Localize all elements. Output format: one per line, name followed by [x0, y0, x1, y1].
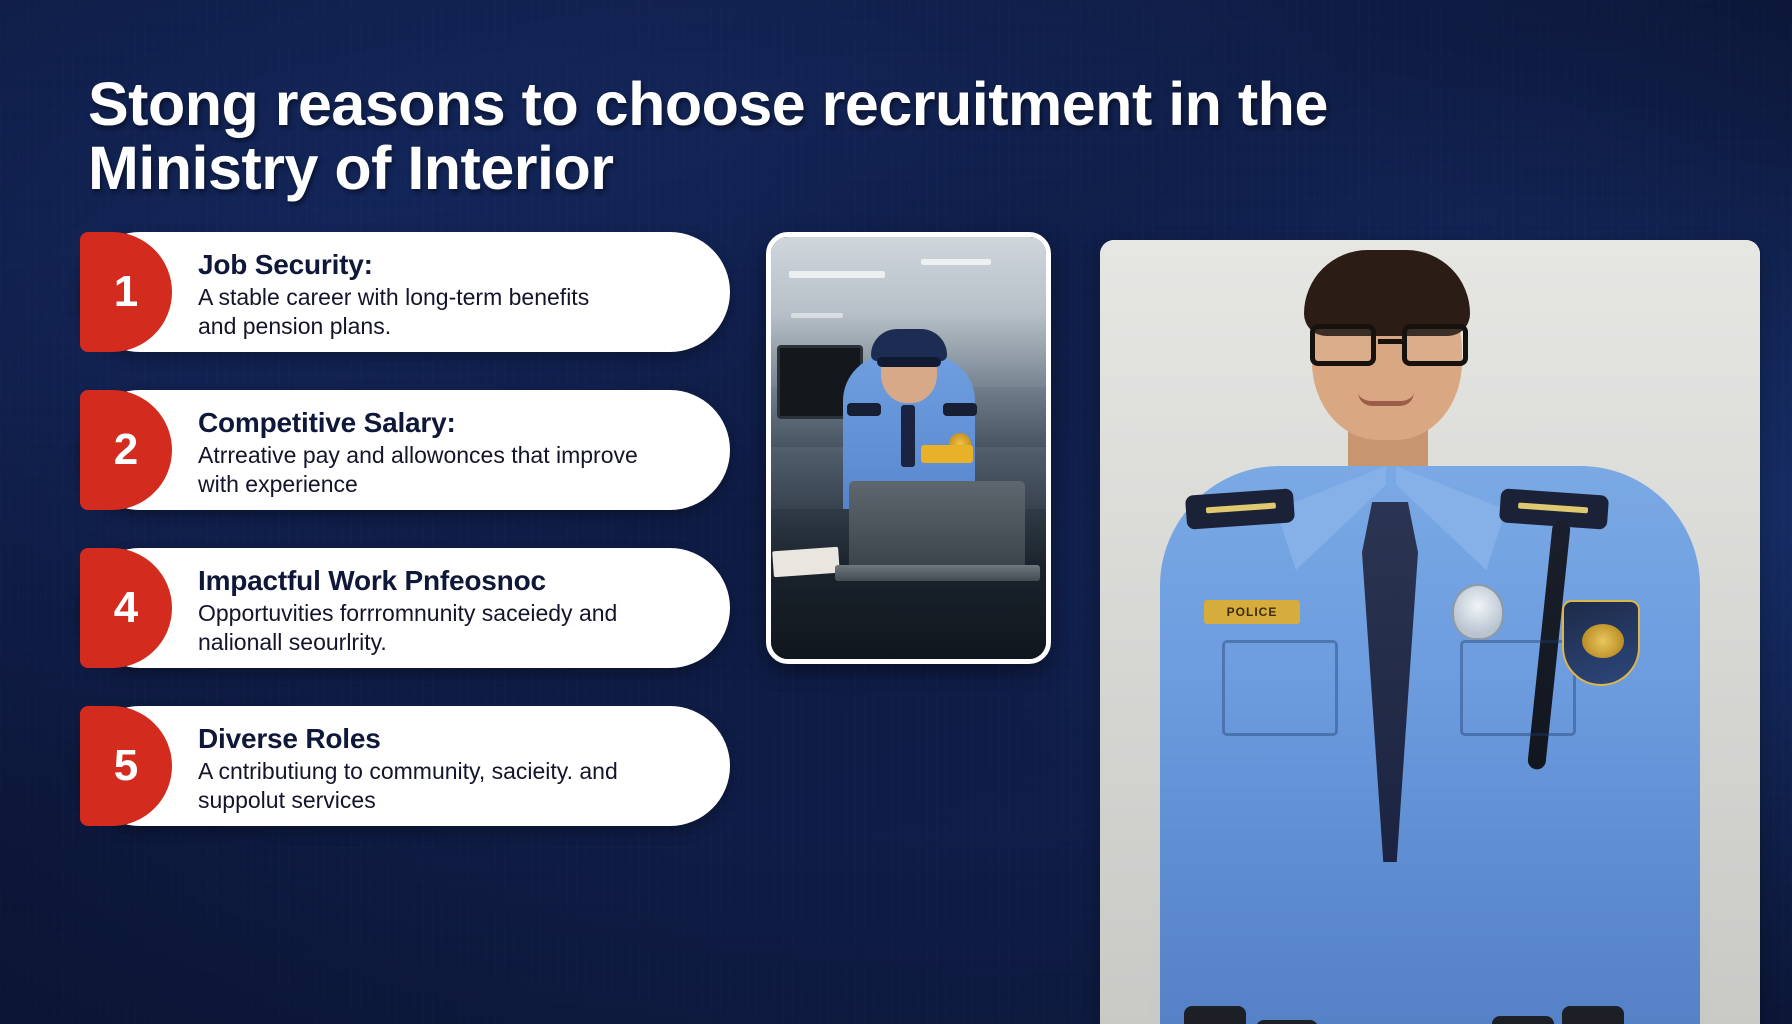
belt-pouch: [1256, 1020, 1318, 1024]
officer-desk-photo: [766, 232, 1051, 664]
list-item[interactable]: 2 Competitive Salary: Atrreative pay and…: [80, 390, 730, 510]
reason-title: Job Security:: [198, 249, 690, 280]
belt-pouch: [1184, 1006, 1246, 1024]
shirt-pocket-right: [1460, 640, 1576, 736]
card-text: Impactful Work Pnfeosnoc Opportuvities f…: [172, 548, 730, 668]
reason-title: Competitive Salary:: [198, 407, 690, 438]
card-text: Diverse Roles A cntributiung to communit…: [172, 706, 730, 826]
rank-bar-icon: [1206, 502, 1276, 513]
laptop-screen: [849, 481, 1025, 567]
list-item[interactable]: 1 Job Security: A stable career with lon…: [80, 232, 730, 352]
belt-pouch: [1492, 1016, 1554, 1024]
lens-left: [1310, 324, 1376, 366]
reasons-list: 1 Job Security: A stable career with lon…: [80, 232, 730, 864]
glasses-bridge: [1378, 339, 1402, 344]
page-title: Stong reasons to choose recruitment in t…: [88, 72, 1488, 200]
reason-body: A cntributiung to community, sacieity. a…: [198, 757, 690, 815]
reason-title: Diverse Roles: [198, 723, 690, 754]
card-text: Competitive Salary: Atrreative pay and a…: [172, 390, 730, 510]
officer-smile: [1358, 392, 1414, 406]
reason-body: Atrreative pay and allowonces that impro…: [198, 441, 690, 499]
eyeglasses-icon: [1310, 324, 1468, 366]
ceiling-light-icon: [921, 259, 991, 265]
card-text: Job Security: A stable career with long-…: [172, 232, 730, 352]
name-tag: [921, 445, 973, 463]
reason-body: A stable career with long-term benefits …: [198, 283, 690, 341]
papers: [772, 547, 840, 578]
arm-patch-icon: [1562, 600, 1640, 686]
ceiling-light-icon: [789, 271, 885, 278]
epaulette-right: [943, 403, 977, 416]
reason-title: Impactful Work Pnfeosnoc: [198, 565, 690, 596]
necktie: [901, 405, 915, 467]
police-cap-icon: [871, 329, 947, 361]
name-tag: POLICE: [1204, 600, 1300, 624]
belt-pouch: [1562, 1006, 1624, 1024]
list-item[interactable]: 5 Diverse Roles A cntributiung to commun…: [80, 706, 730, 826]
uniform-shirt: [1160, 466, 1700, 1024]
officer-portrait-photo: POLICE: [1100, 240, 1760, 1024]
list-item[interactable]: 4 Impactful Work Pnfeosnoc Opportuvities…: [80, 548, 730, 668]
chest-badge-icon: [1452, 584, 1504, 640]
reason-body: Opportuvities forrromnunity saceiedy and…: [198, 599, 690, 657]
rank-bar-icon: [1518, 502, 1588, 513]
epaulette-left: [847, 403, 881, 416]
shirt-pocket-left: [1222, 640, 1338, 736]
ceiling-light-icon: [791, 313, 843, 318]
lens-right: [1402, 324, 1468, 366]
laptop-base: [835, 565, 1040, 581]
